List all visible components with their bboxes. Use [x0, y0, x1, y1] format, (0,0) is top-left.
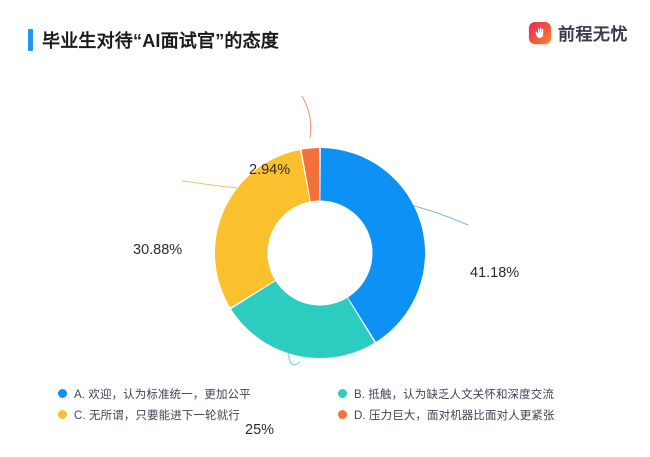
legend-item-d[interactable]: D. 压力巨大，面对机器比面对人更紧张: [338, 407, 618, 423]
leader-line-c: [182, 181, 237, 188]
legend-item-c[interactable]: C. 无所谓，只要能进下一轮就行: [58, 407, 338, 423]
chart-legend: A. 欢迎，认为标准统一，更加公平 B. 抵触，认为缺乏人文关怀和深度交流 C.…: [58, 383, 618, 431]
leader-line-d: [302, 96, 311, 138]
donut-chart-svg: [0, 70, 650, 375]
donut-slices: [215, 148, 425, 358]
brand-name: 前程无忧: [558, 20, 628, 45]
page-title: 毕业生对待“AI面试官”的态度: [28, 27, 279, 53]
legend-swatch-c: [58, 410, 67, 419]
legend-label-d: D. 压力巨大，面对机器比面对人更紧张: [354, 407, 555, 423]
page-title-text: 毕业生对待“AI面试官”的态度: [42, 27, 279, 53]
legend-item-b[interactable]: B. 抵触，认为缺乏人文关怀和深度交流: [338, 386, 618, 402]
legend-swatch-d: [338, 410, 347, 419]
legend-label-a: A. 欢迎，认为标准统一，更加公平: [74, 386, 251, 402]
page-header: 毕业生对待“AI面试官”的态度 前程无忧: [0, 0, 650, 70]
brand-logo: 前程无忧: [529, 20, 628, 45]
value-label-d: 2.94%: [249, 162, 290, 178]
legend-item-a[interactable]: A. 欢迎，认为标准统一，更加公平: [58, 386, 338, 402]
donut-chart: 41.18% 25% 30.88% 2.94%: [0, 70, 650, 375]
palm-hand-icon: [529, 22, 551, 44]
legend-label-b: B. 抵触，认为缺乏人文关怀和深度交流: [354, 386, 554, 402]
value-label-a: 41.18%: [470, 265, 519, 281]
value-label-c: 30.88%: [133, 242, 182, 258]
legend-swatch-b: [338, 389, 347, 398]
title-accent-bar: [28, 29, 33, 51]
legend-swatch-a: [58, 389, 67, 398]
palm-hand-glyph: [534, 26, 547, 39]
chart-page: 毕业生对待“AI面试官”的态度 前程无忧: [0, 0, 650, 457]
legend-label-c: C. 无所谓，只要能进下一轮就行: [74, 407, 240, 423]
